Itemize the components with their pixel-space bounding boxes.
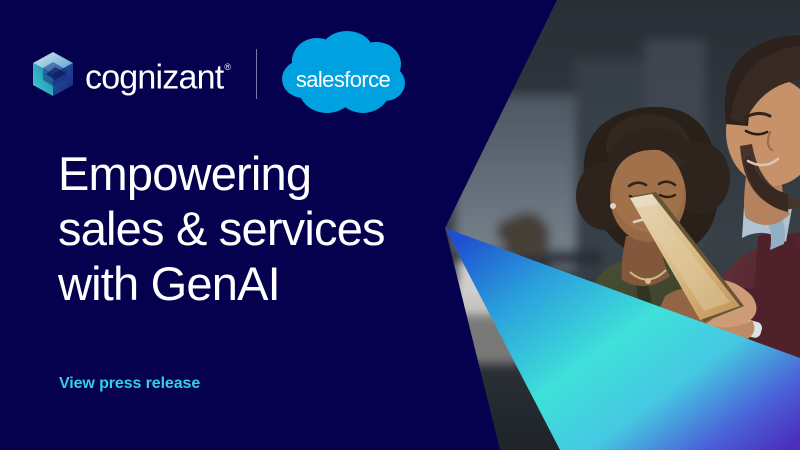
- salesforce-wordmark: salesforce: [281, 69, 405, 91]
- headline-line-2: sales & services: [58, 202, 385, 255]
- headline-line-3: with GenAI: [58, 257, 280, 310]
- page-title: Empowering sales & services with GenAI: [58, 146, 385, 311]
- registered-trademark-icon: ®: [224, 62, 231, 72]
- cognizant-wordmark: cognizant®: [85, 56, 230, 94]
- cognizant-hexagon-icon: [32, 51, 74, 97]
- salesforce-logo[interactable]: salesforce: [281, 31, 405, 117]
- logo-bar: cognizant® salesforce: [32, 32, 405, 116]
- press-release-banner: cognizant® salesforce Empowering s: [0, 0, 800, 450]
- view-press-release-link[interactable]: View press release: [59, 374, 200, 394]
- cognizant-logo[interactable]: cognizant®: [32, 51, 230, 97]
- headline-line-1: Empowering: [58, 147, 311, 200]
- logo-divider: [256, 49, 257, 99]
